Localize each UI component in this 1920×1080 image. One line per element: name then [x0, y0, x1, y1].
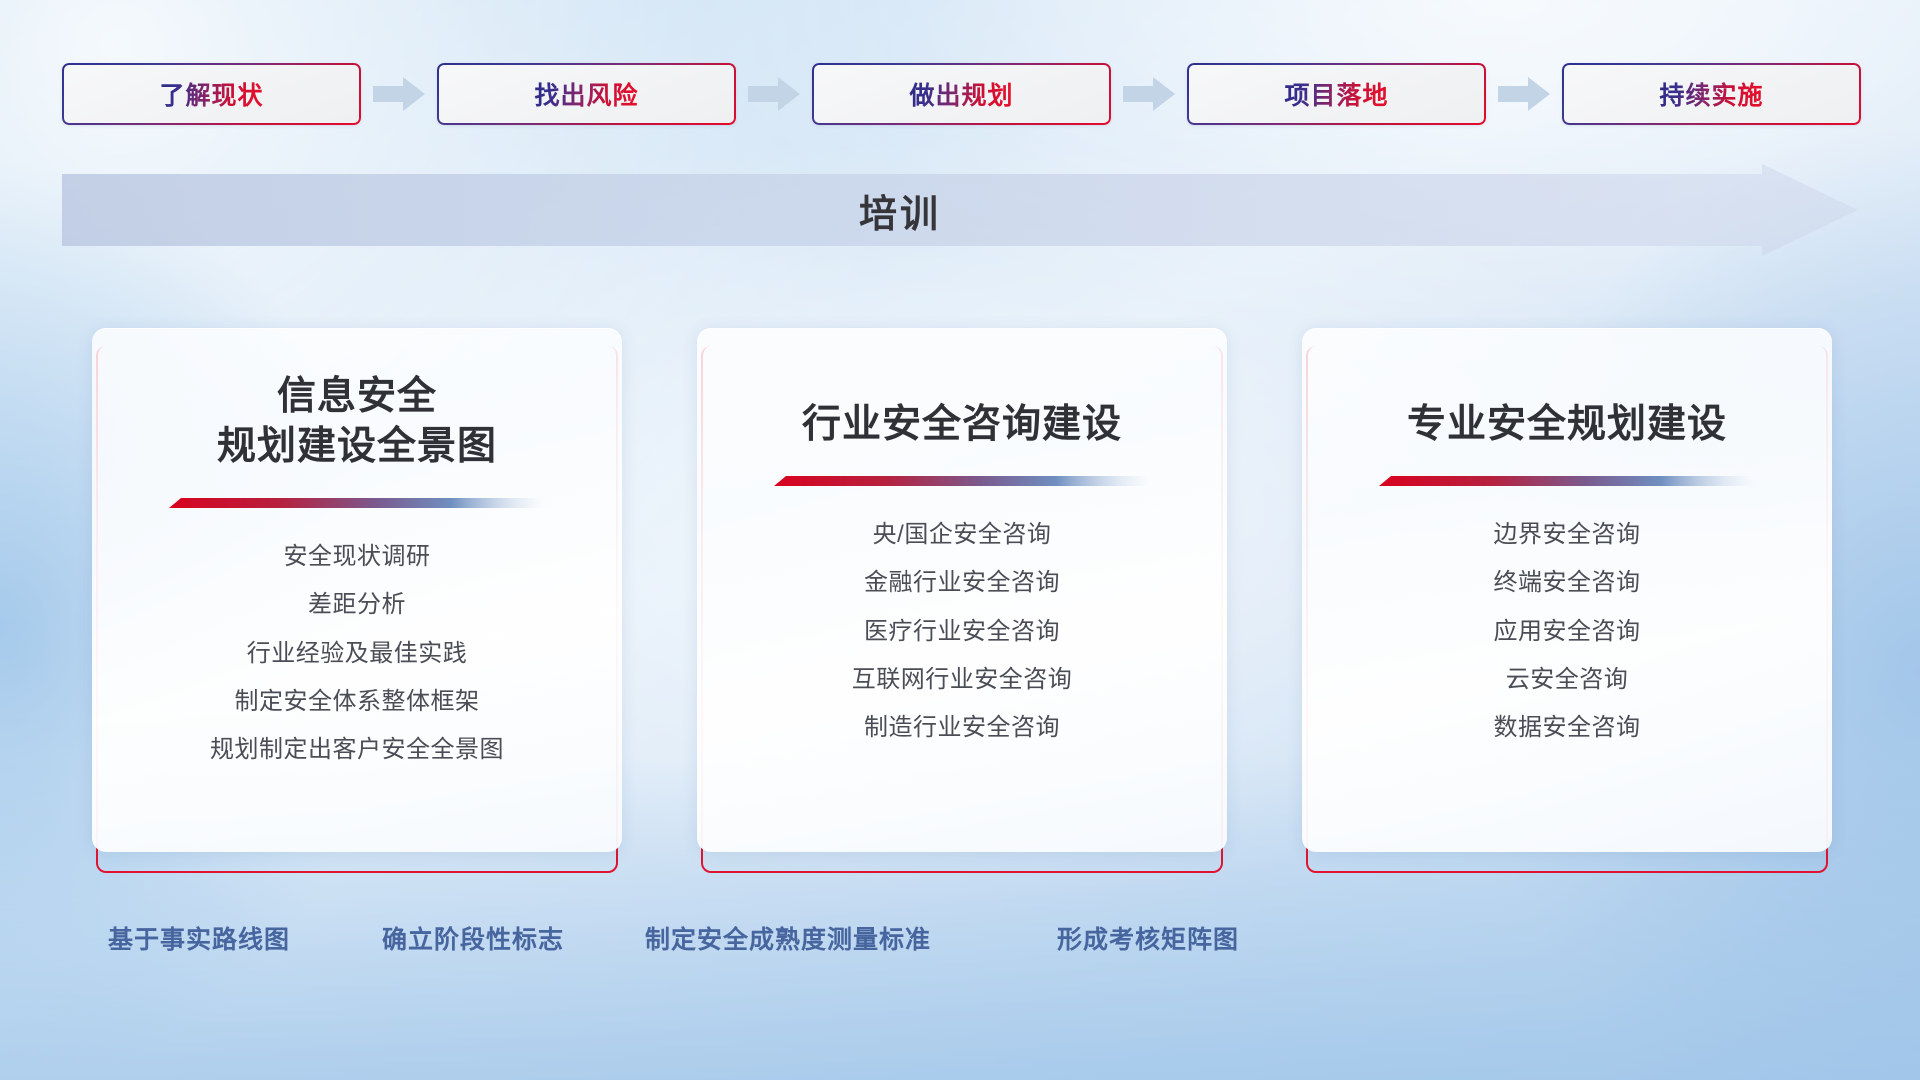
- training-banner: 培训: [62, 164, 1858, 256]
- step-box-5[interactable]: 持续实施: [1562, 63, 1861, 125]
- step-label-5: 持续实施: [1659, 76, 1763, 112]
- slide-stage: 了解现状 找出风险 做出规划 项目落地 持续实施: [0, 0, 1920, 1080]
- footer-label-4: 形成考核矩阵图: [1057, 920, 1239, 956]
- list-item: 规划制定出客户安全全景图: [210, 734, 504, 766]
- step-box-4[interactable]: 项目落地: [1187, 63, 1486, 125]
- card-1[interactable]: 信息安全 规划建设全景图: [92, 328, 622, 873]
- list-item: 互联网行业安全咨询: [852, 664, 1073, 696]
- list-item: 央/国企安全咨询: [873, 519, 1052, 551]
- footer-label-2: 确立阶段性标志: [382, 920, 564, 956]
- step-box-3[interactable]: 做出规划: [812, 63, 1111, 125]
- footer-label-1: 基于事实路线图: [108, 920, 290, 956]
- card-1-panel[interactable]: 信息安全 规划建设全景图: [92, 328, 622, 852]
- list-item: 差距分析: [308, 589, 406, 621]
- list-item: 边界安全咨询: [1494, 519, 1641, 551]
- card-3-divider: [1379, 476, 1755, 489]
- card-3-title: 专业安全规划建设: [1407, 400, 1727, 450]
- list-item: 行业经验及最佳实践: [247, 638, 468, 670]
- list-item: 金融行业安全咨询: [864, 567, 1060, 599]
- card-2-title: 行业安全咨询建设: [802, 400, 1122, 450]
- step-box-1[interactable]: 了解现状: [62, 63, 361, 125]
- list-item: 制定安全体系整体框架: [235, 686, 480, 718]
- step-label-3: 做出规划: [909, 76, 1013, 112]
- banner-title: 培训: [62, 164, 1858, 256]
- card-2[interactable]: 行业安全咨询建设: [697, 328, 1227, 873]
- card-1-divider: [169, 498, 545, 511]
- list-item: 数据安全咨询: [1494, 712, 1641, 744]
- card-3[interactable]: 专业安全规划建设: [1302, 328, 1832, 873]
- process-step-row: 了解现状 找出风险 做出规划 项目落地 持续实施: [62, 62, 1858, 126]
- card-2-panel[interactable]: 行业安全咨询建设: [697, 328, 1227, 852]
- card-3-list: 边界安全咨询 终端安全咨询 应用安全咨询 云安全咨询 数据安全咨询: [1336, 519, 1798, 745]
- step-label-2: 找出风险: [534, 76, 638, 112]
- card-2-divider: [774, 476, 1150, 489]
- card-3-panel[interactable]: 专业安全规划建设: [1302, 328, 1832, 852]
- footer-label-row: 基于事实路线图 确立阶段性标志 制定安全成熟度测量标准 形成考核矩阵图: [0, 920, 1920, 966]
- footer-label-3: 制定安全成熟度测量标准: [645, 920, 931, 956]
- chevron-right-icon: [1486, 62, 1562, 126]
- list-item: 终端安全咨询: [1494, 567, 1641, 599]
- card-1-title: 信息安全 规划建设全景图: [217, 372, 497, 472]
- step-box-2[interactable]: 找出风险: [437, 63, 736, 125]
- step-label-1: 了解现状: [159, 76, 263, 112]
- list-item: 应用安全咨询: [1494, 616, 1641, 648]
- cards-row: 信息安全 规划建设全景图: [92, 328, 1832, 873]
- list-item: 制造行业安全咨询: [864, 712, 1060, 744]
- list-item: 云安全咨询: [1506, 664, 1629, 696]
- list-item: 医疗行业安全咨询: [864, 616, 1060, 648]
- list-item: 安全现状调研: [284, 541, 431, 573]
- chevron-right-icon: [736, 62, 812, 126]
- card-2-list: 央/国企安全咨询 金融行业安全咨询 医疗行业安全咨询 互联网行业安全咨询 制造行…: [731, 519, 1193, 745]
- chevron-right-icon: [361, 62, 437, 126]
- card-1-list: 安全现状调研 差距分析 行业经验及最佳实践 制定安全体系整体框架 规划制定出客户…: [126, 541, 588, 767]
- chevron-right-icon: [1111, 62, 1187, 126]
- step-label-4: 项目落地: [1284, 76, 1388, 112]
